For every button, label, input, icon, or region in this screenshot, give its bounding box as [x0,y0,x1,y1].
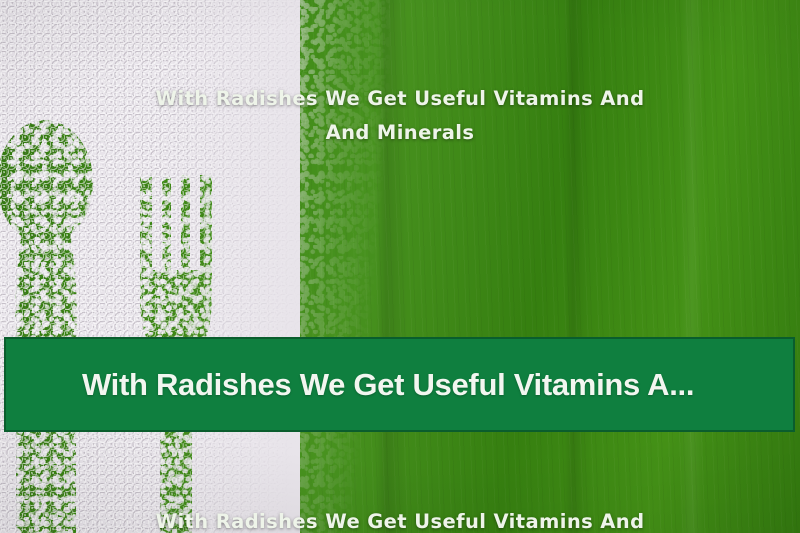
hero-article-image: With Radishes We Get Useful Vitamins And… [0,0,800,533]
title-banner[interactable]: With Radishes We Get Useful Vitamins A..… [4,337,795,432]
overlay-title-line-1: With Radishes We Get Useful Vitamins And [96,82,704,116]
bottom-title: With Radishes We Get Useful Vitamins And [0,505,800,533]
title-banner-text: With Radishes We Get Useful Vitamins A..… [6,367,793,403]
overlay-title: With Radishes We Get Useful Vitamins And… [0,82,800,150]
photo-vignette [0,0,800,533]
overlay-title-line-2: And Minerals [96,116,704,150]
